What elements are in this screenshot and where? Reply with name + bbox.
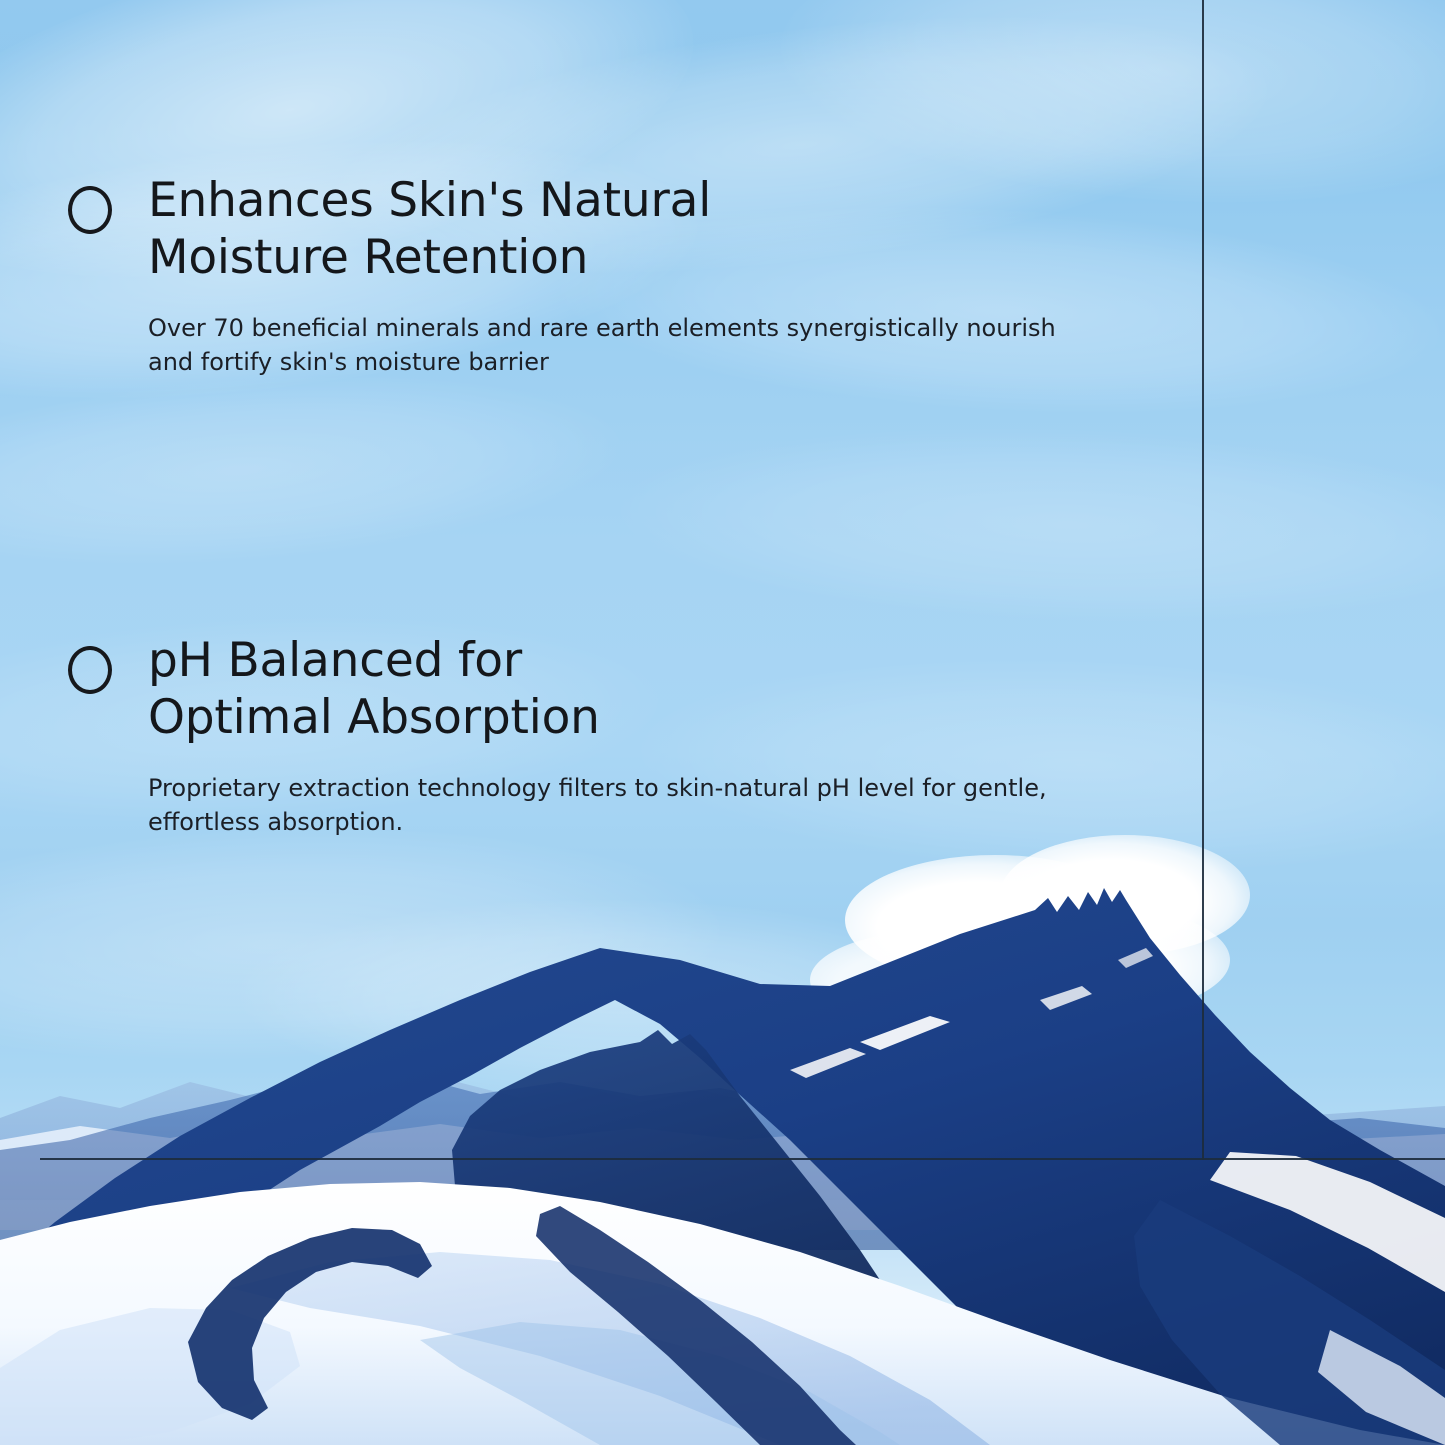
circle-outline-icon <box>68 186 112 234</box>
feature-heading-row: pH Balanced for Optimal Absorption <box>68 632 1047 746</box>
feature-item-moisture-retention: Enhances Skin's Natural Moisture Retenti… <box>68 172 1056 379</box>
feature-heading: pH Balanced for Optimal Absorption <box>148 632 600 746</box>
product-feature-panel: Enhances Skin's Natural Moisture Retenti… <box>0 0 1445 1445</box>
feature-heading: Enhances Skin's Natural Moisture Retenti… <box>148 172 711 286</box>
feature-item-ph-balanced: pH Balanced for Optimal Absorption Propr… <box>68 632 1047 839</box>
vertical-guide-line <box>1202 0 1204 1160</box>
feature-heading-row: Enhances Skin's Natural Moisture Retenti… <box>68 172 1056 286</box>
horizontal-guide-line <box>40 1158 1445 1160</box>
feature-body-text: Proprietary extraction technology filter… <box>148 771 1047 839</box>
feature-body-text: Over 70 beneficial minerals and rare ear… <box>148 311 1056 379</box>
circle-outline-icon <box>68 646 112 694</box>
